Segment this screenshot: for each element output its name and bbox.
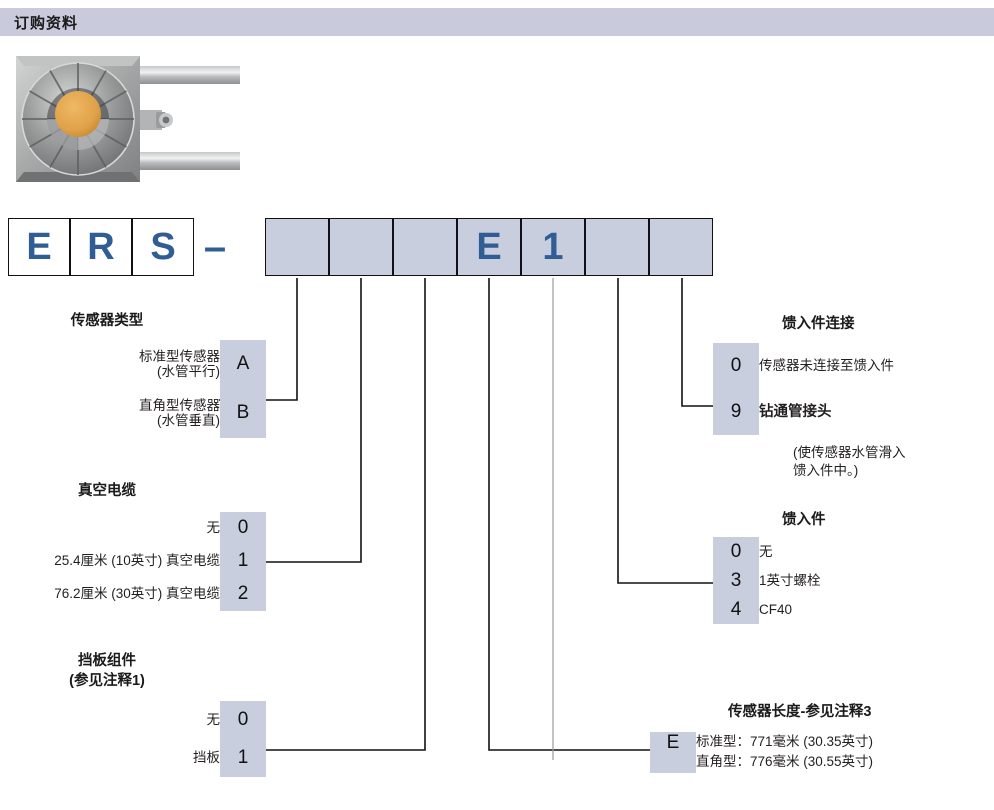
vacuum-cable-options: 无 0 25.4厘米 (10英寸) 真空电缆 1 76.2厘米 (30英寸) 真… bbox=[0, 512, 266, 611]
sensor-length-options: E 标准型：771毫米 (30.35英寸) 直角型：776毫米 (30.55英寸… bbox=[650, 732, 873, 773]
option-row[interactable]: 标准型传感器 (水管平行) A bbox=[0, 340, 266, 389]
option-row[interactable]: 76.2厘米 (30英寸) 真空电缆 2 bbox=[0, 578, 266, 611]
group-vacuum-cable: 真空电缆 无 0 25.4厘米 (10英寸) 真空电缆 1 76.2厘米 (30… bbox=[0, 482, 266, 611]
feedthrough-connection-options: 0 传感器未连接至馈入件 9 钻通管接头 bbox=[713, 343, 894, 435]
code-slot-1-sensor-type[interactable] bbox=[265, 218, 329, 276]
option-row[interactable]: 0 传感器未连接至馈入件 bbox=[713, 343, 894, 389]
code-slot-3-baffle-assembly[interactable] bbox=[393, 218, 457, 276]
section-header-bar bbox=[0, 8, 994, 36]
baffle-assembly-options: 无 0 挡板 1 bbox=[0, 701, 266, 777]
group-feedthrough-title: 馈入件 bbox=[782, 508, 826, 529]
option-desc-line1: 直角型传感器 bbox=[0, 398, 220, 414]
code-slot-7-feedthrough-connection[interactable] bbox=[649, 218, 713, 276]
group-title-line2: (参见注释1) bbox=[0, 672, 214, 692]
group-feedthrough: 馈入件 0 无 3 1英寸螺栓 4 CF40 bbox=[713, 508, 826, 624]
option-row[interactable]: 无 0 bbox=[0, 512, 266, 545]
option-code[interactable]: 1 bbox=[220, 739, 266, 777]
option-row[interactable]: 25.4厘米 (10英寸) 真空电缆 1 bbox=[0, 545, 266, 578]
option-desc: 25.4厘米 (10英寸) 真空电缆 bbox=[0, 545, 220, 578]
sensor-type-options: 标准型传感器 (水管平行) A 直角型传感器 (水管垂直) B bbox=[0, 340, 266, 438]
option-desc: 无 bbox=[759, 537, 821, 566]
option-code[interactable]: 0 bbox=[713, 537, 759, 566]
option-code[interactable]: 3 bbox=[713, 566, 759, 595]
code-slot-5[interactable]: 1 bbox=[521, 218, 585, 276]
group-sensor-type: 传感器类型 标准型传感器 (水管平行) A 直角型传感器 (水管垂直) B bbox=[0, 312, 266, 438]
group-baffle-assembly: 挡板组件 (参见注释1) 无 0 挡板 1 bbox=[0, 652, 266, 777]
code-prefix-box-2: R bbox=[70, 218, 132, 276]
option-desc: 1英寸螺栓 bbox=[759, 566, 821, 595]
feedthrough-connection-note: (使传感器水管滑入 馈入件中。) bbox=[793, 444, 906, 479]
option-desc: CF40 bbox=[759, 595, 821, 624]
option-desc: 无 bbox=[0, 701, 220, 739]
option-code[interactable]: 2 bbox=[220, 578, 266, 611]
group-feedthrough-connection-title: 馈入件连接 bbox=[782, 312, 906, 333]
option-desc-line2: (水管垂直) bbox=[0, 413, 220, 429]
code-slot-2-vacuum-cable[interactable] bbox=[329, 218, 393, 276]
sensor-length-line-2: 直角型：776毫米 (30.55英寸) bbox=[696, 752, 873, 772]
group-sensor-length-title: 传感器长度-参见注释3 bbox=[728, 700, 873, 721]
group-sensor-length: 传感器长度-参见注释3 E 标准型：771毫米 (30.35英寸) 直角型：77… bbox=[650, 700, 873, 773]
option-code[interactable]: A bbox=[220, 340, 266, 389]
option-row[interactable]: 4 CF40 bbox=[713, 595, 821, 624]
ordering-information-page: 订购资料 bbox=[0, 0, 994, 810]
page-title: 订购资料 bbox=[14, 12, 78, 33]
sensor-length-line-1: 标准型：771毫米 (30.35英寸) bbox=[696, 732, 873, 752]
group-vacuum-cable-title: 真空电缆 bbox=[0, 482, 266, 502]
product-photo bbox=[8, 48, 240, 193]
option-desc: 无 bbox=[0, 512, 220, 545]
option-code[interactable]: 0 bbox=[713, 343, 759, 389]
option-code[interactable]: 0 bbox=[220, 512, 266, 545]
option-row[interactable]: 3 1英寸螺栓 bbox=[713, 566, 821, 595]
group-sensor-type-title: 传感器类型 bbox=[0, 312, 266, 332]
code-prefix-box-3: S bbox=[132, 218, 194, 276]
option-code[interactable]: B bbox=[220, 389, 266, 438]
feedthrough-options: 0 无 3 1英寸螺栓 4 CF40 bbox=[713, 537, 821, 624]
option-code[interactable]: 1 bbox=[220, 545, 266, 578]
code-slot-4-sensor-length[interactable]: E bbox=[457, 218, 521, 276]
option-code[interactable]: 4 bbox=[713, 595, 759, 624]
option-desc: 传感器未连接至馈入件 bbox=[759, 343, 894, 389]
option-row[interactable]: 直角型传感器 (水管垂直) B bbox=[0, 389, 266, 438]
option-code[interactable]: 9 bbox=[713, 389, 759, 435]
code-prefix-box-1: E bbox=[8, 218, 70, 276]
group-title-line1: 挡板组件 bbox=[0, 652, 214, 672]
option-desc-line1: 标准型传感器 bbox=[0, 349, 220, 365]
option-row[interactable]: 9 钻通管接头 bbox=[713, 389, 894, 435]
option-code[interactable]: E bbox=[650, 732, 696, 773]
option-row[interactable]: E 标准型：771毫米 (30.35英寸) 直角型：776毫米 (30.55英寸… bbox=[650, 732, 873, 773]
option-desc: 76.2厘米 (30英寸) 真空电缆 bbox=[0, 578, 220, 611]
option-row[interactable]: 挡板 1 bbox=[0, 739, 266, 777]
note-line2: 馈入件中。) bbox=[793, 462, 906, 480]
group-feedthrough-connection: 馈入件连接 0 传感器未连接至馈入件 9 钻通管接头 (使传感器水管滑入 馈入件… bbox=[713, 312, 906, 479]
group-baffle-assembly-title: 挡板组件 (参见注释1) bbox=[0, 652, 266, 691]
option-row[interactable]: 无 0 bbox=[0, 701, 266, 739]
note-line1: (使传感器水管滑入 bbox=[793, 444, 906, 462]
option-code[interactable]: 0 bbox=[220, 701, 266, 739]
code-slot-6-feedthrough[interactable] bbox=[585, 218, 649, 276]
code-separator-dash: – bbox=[200, 218, 230, 276]
option-desc: 钻通管接头 bbox=[759, 389, 894, 435]
option-row[interactable]: 0 无 bbox=[713, 537, 821, 566]
option-desc: 挡板 bbox=[0, 739, 220, 777]
option-desc-line2: (水管平行) bbox=[0, 364, 220, 380]
